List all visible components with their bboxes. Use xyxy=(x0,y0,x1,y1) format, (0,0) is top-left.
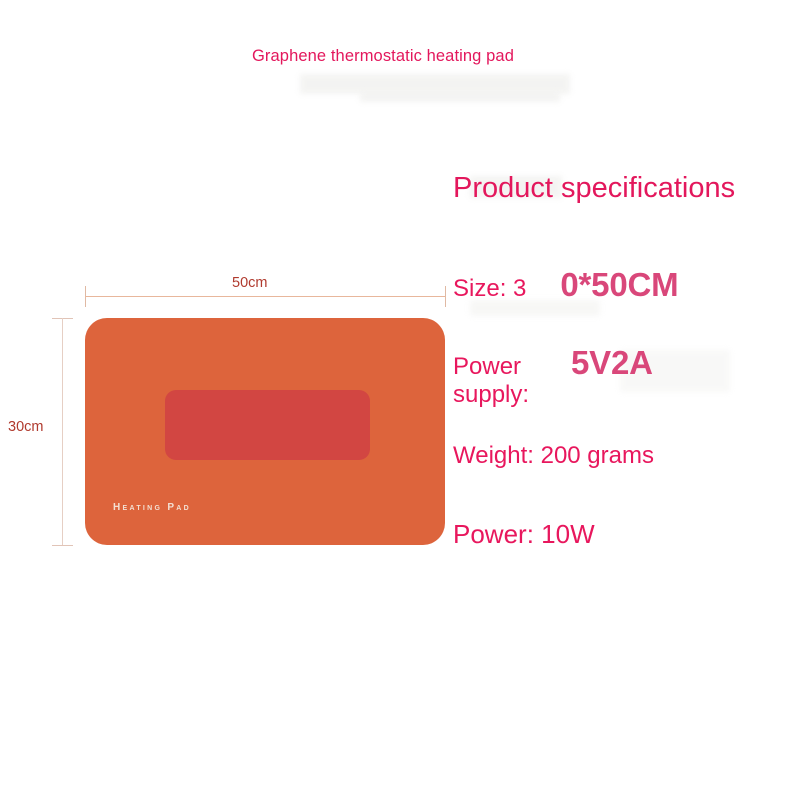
spec-label-size: Size: 3 xyxy=(453,275,526,303)
height-dimension-label: 30cm xyxy=(8,419,43,435)
spec-value-size: 0*50CM xyxy=(560,266,678,304)
height-dimension-line xyxy=(62,318,63,545)
width-dimension-cap-right xyxy=(445,286,446,307)
product-spec-graphic: Graphene thermostatic heating pad 50cm 3… xyxy=(0,0,800,800)
heating-pad-illustration: Heating Pad xyxy=(85,318,445,545)
heating-pad-inner-panel xyxy=(165,390,370,460)
background-artifact xyxy=(360,92,560,102)
spec-row-size: Size: 3 0*50CM xyxy=(453,266,678,304)
heating-pad-brand-text: Heating Pad xyxy=(113,502,191,513)
width-dimension-line xyxy=(85,296,445,297)
spec-row-power: Power: 10W xyxy=(453,519,595,550)
specifications-title: Product specifications xyxy=(453,170,773,208)
spec-row-weight: Weight: 200 grams xyxy=(453,442,654,470)
height-dimension-cap-bottom xyxy=(52,545,73,546)
spec-value-power-supply: 5V2A xyxy=(571,344,653,382)
width-dimension-label: 50cm xyxy=(232,275,267,291)
spec-row-power-supply: Power supply: 5V2A xyxy=(453,344,653,410)
product-headline: Graphene thermostatic heating pad xyxy=(252,45,552,68)
background-artifact xyxy=(300,74,570,94)
spec-label-power-supply: Power supply: xyxy=(453,353,557,410)
